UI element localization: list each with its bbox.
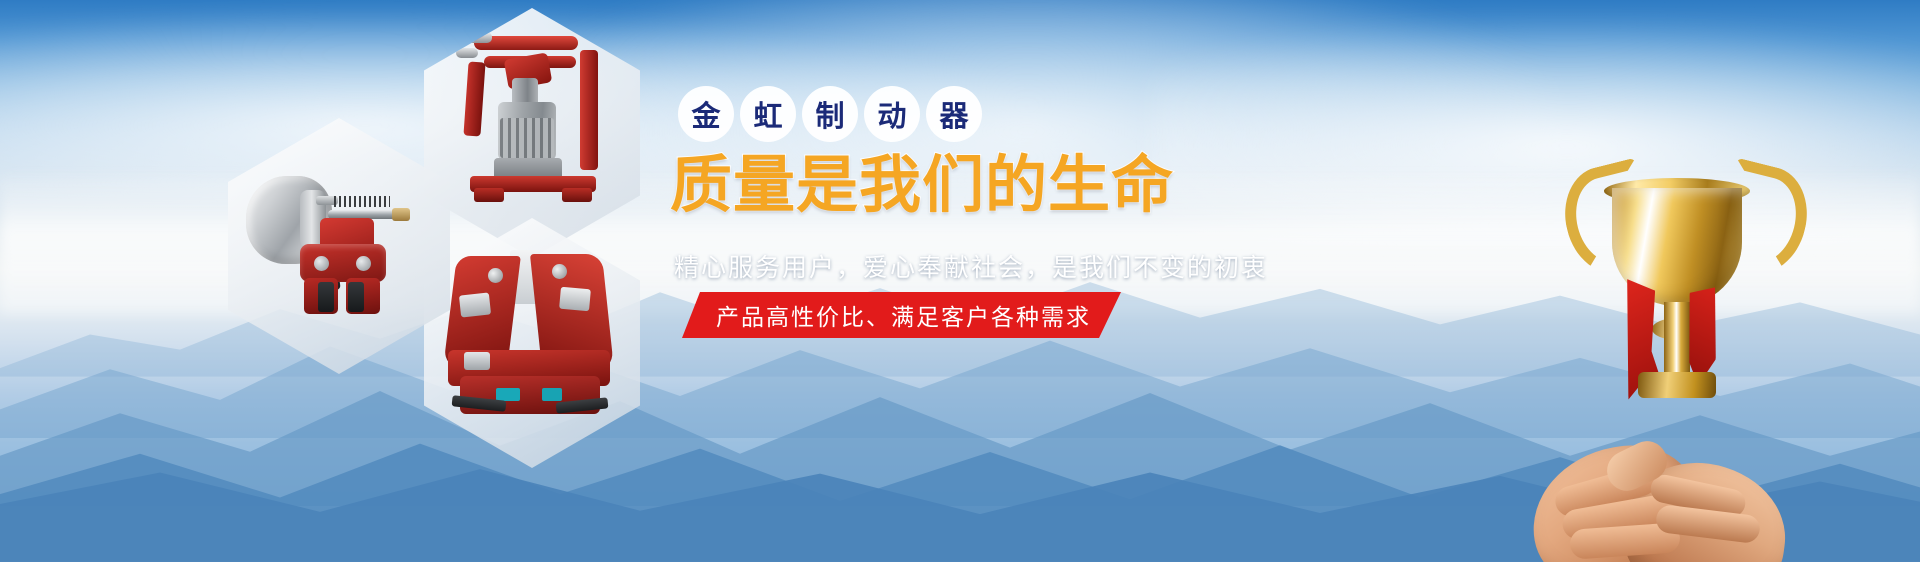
brand-char-4: 动 (864, 86, 920, 142)
headline-text: 质量是我们的生命 (670, 152, 1270, 217)
promotional-banner: 金 虹 制 动 器 质量是我们的生命 精心服务用户，爱心奉献社会，是我们不变的初… (0, 0, 1920, 562)
product-hex-left[interactable] (228, 118, 450, 374)
banner-text-block: 金 虹 制 动 器 质量是我们的生命 精心服务用户，爱心奉献社会，是我们不变的初… (660, 0, 1280, 562)
subheadline-text: 精心服务用户，爱心奉献社会，是我们不变的初衷 (674, 248, 1274, 284)
hands-holding-trophy (1510, 412, 1810, 562)
drum-brake-illustration (242, 148, 438, 344)
product-hexagon-cluster (228, 0, 648, 462)
product-hex-bottom-right[interactable] (424, 218, 640, 468)
brand-char-2: 虹 (740, 86, 796, 142)
red-tagline-banner: 产品高性价比、满足客户各种需求 (682, 292, 1121, 338)
brand-name: 金 虹 制 动 器 (678, 86, 982, 142)
brand-char-5: 器 (926, 86, 982, 142)
trophy-decoration (1500, 142, 1920, 562)
caliper-brake-illustration (444, 248, 626, 438)
thruster-brake-illustration (450, 22, 626, 236)
brand-char-3: 制 (802, 86, 858, 142)
brand-char-1: 金 (678, 86, 734, 142)
